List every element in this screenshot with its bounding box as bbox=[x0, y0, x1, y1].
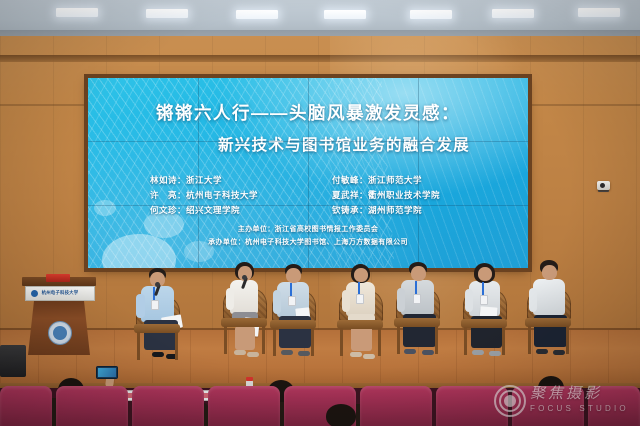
wall-trim-molding bbox=[0, 55, 640, 62]
audience-seat[interactable] bbox=[56, 386, 128, 426]
panelist-shoe bbox=[247, 352, 259, 357]
panelist-head bbox=[478, 267, 492, 281]
bottle-cap bbox=[246, 377, 253, 381]
led-video-wall: 锵锵六人行——头脑风暴激发灵感： 新兴技术与图书馆业务的融合发展 林如诗：浙江大… bbox=[88, 78, 528, 268]
chair-leg bbox=[137, 332, 140, 360]
panelist-legs bbox=[351, 326, 372, 351]
panelist-arm bbox=[226, 288, 234, 310]
chair-leg bbox=[224, 326, 227, 354]
panelist-shoe bbox=[404, 349, 416, 354]
microphone-head bbox=[155, 282, 160, 287]
panelist-arm bbox=[529, 288, 537, 312]
screenshot-root: 锵锵六人行——头脑风暴激发灵感： 新兴技术与图书馆业务的融合发展 林如诗：浙江大… bbox=[0, 0, 640, 426]
wicker-chair-seat bbox=[221, 318, 267, 327]
panelist-shoe bbox=[350, 352, 362, 357]
audience-seat[interactable] bbox=[208, 386, 280, 426]
led-ceiling-panel bbox=[410, 10, 452, 19]
audience-seat[interactable] bbox=[132, 386, 204, 426]
panelist-shoe bbox=[234, 350, 246, 355]
panelist-head bbox=[411, 266, 426, 281]
chair-leg bbox=[340, 328, 343, 356]
id-badge bbox=[288, 296, 296, 306]
podium: 杭州电子科技大学 bbox=[22, 277, 96, 355]
panelist-shoe bbox=[553, 350, 565, 355]
speaker-name: 许 亮：杭州电子科技大学 bbox=[150, 189, 332, 201]
panelist-shoe bbox=[472, 350, 484, 355]
panelist-shoe bbox=[363, 354, 375, 359]
video-wall-seam bbox=[418, 78, 419, 268]
wicker-chair-seat bbox=[525, 318, 571, 327]
video-wall-seam bbox=[88, 205, 528, 206]
podium-nameplate: 杭州电子科技大学 bbox=[25, 286, 95, 301]
id-badge bbox=[480, 295, 488, 305]
panelist-head bbox=[354, 268, 368, 282]
panelist-shoe bbox=[422, 350, 434, 355]
panelist-7 bbox=[523, 260, 577, 366]
led-ceiling-panel bbox=[56, 8, 98, 17]
chair-leg bbox=[566, 326, 569, 354]
podium-red-tag bbox=[46, 274, 70, 282]
panelist-6 bbox=[459, 263, 513, 366]
wicker-chair-seat bbox=[461, 319, 507, 328]
speaker-name: 付敏峰：浙江师范大学 bbox=[332, 174, 422, 186]
led-ceiling-panel bbox=[324, 10, 366, 19]
panelist-arm bbox=[397, 288, 405, 312]
chair-leg bbox=[435, 326, 438, 354]
panelist-arm bbox=[342, 290, 350, 312]
chair-leg bbox=[175, 332, 178, 360]
chair-leg bbox=[311, 328, 314, 356]
panelist-shoe bbox=[152, 352, 164, 357]
chair-leg bbox=[397, 326, 400, 354]
chair-leg bbox=[502, 327, 505, 355]
university-emblem-icon bbox=[48, 321, 72, 345]
audience-seat[interactable] bbox=[360, 386, 432, 426]
wicker-chair-seat bbox=[270, 320, 316, 329]
chair-leg bbox=[464, 327, 467, 355]
video-wall-seam bbox=[88, 141, 528, 142]
chair-leg bbox=[262, 326, 265, 354]
logo-center-dot bbox=[504, 395, 516, 407]
camera-lens bbox=[600, 183, 605, 188]
microphone-head bbox=[242, 275, 247, 280]
panelist-2 bbox=[219, 262, 273, 366]
smartphone bbox=[96, 366, 118, 379]
wicker-chair-seat bbox=[134, 324, 180, 333]
aperture-ring-logo-icon bbox=[494, 385, 524, 415]
slide-speaker-list: 林如诗：浙江大学 付敏峰：浙江师范大学 许 亮：杭州电子科技大学 夏武祥：衢州职… bbox=[150, 174, 510, 216]
lanyard bbox=[415, 281, 417, 295]
chair-leg bbox=[273, 328, 276, 356]
speaker-row: 林如诗：浙江大学 付敏峰：浙江师范大学 bbox=[150, 174, 510, 186]
photographer-watermark: 聚焦摄影 FOCUS STUDIO bbox=[494, 380, 634, 420]
wicker-chair-seat bbox=[394, 318, 440, 327]
panelist-5 bbox=[392, 262, 446, 366]
led-ceiling-panel bbox=[492, 9, 534, 18]
emblem-inner bbox=[53, 326, 67, 340]
watermark-brand-en: FOCUS STUDIO bbox=[530, 404, 629, 413]
video-wall-seam bbox=[308, 78, 309, 268]
podium-nameplate-text: 杭州电子科技大学 bbox=[26, 290, 94, 296]
id-badge bbox=[356, 294, 364, 304]
panelist-1 bbox=[132, 268, 188, 366]
panelist-4 bbox=[335, 264, 389, 366]
wicker-chair-seat bbox=[337, 320, 383, 329]
panelist-shoe bbox=[298, 351, 310, 356]
speaker-name: 林如诗：浙江大学 bbox=[150, 174, 332, 186]
led-ceiling-panel bbox=[236, 10, 278, 19]
panelist-shoe bbox=[536, 349, 548, 354]
chair-leg bbox=[378, 328, 381, 356]
audience-seat[interactable] bbox=[0, 386, 52, 426]
panelist-head bbox=[286, 268, 301, 283]
panelist-arm bbox=[273, 290, 281, 314]
led-ceiling-panel bbox=[578, 8, 620, 17]
panelist-shoe bbox=[281, 350, 293, 355]
panelist-3 bbox=[268, 264, 322, 366]
id-badge bbox=[151, 300, 159, 310]
lanyard bbox=[290, 283, 292, 297]
phone-screen bbox=[98, 368, 116, 377]
wall-camera-icon bbox=[597, 181, 611, 192]
panelist-torso bbox=[533, 279, 565, 315]
led-ceiling-panel bbox=[146, 9, 188, 18]
panelist-head bbox=[542, 265, 557, 280]
id-badge bbox=[413, 294, 421, 304]
lanyard bbox=[482, 282, 484, 296]
speaker-name: 夏武祥：衢州职业技术学院 bbox=[332, 189, 440, 201]
panelist-legs bbox=[235, 326, 255, 350]
floor-speaker bbox=[0, 345, 26, 377]
panelist-shoe bbox=[489, 351, 501, 356]
audience-head bbox=[326, 404, 356, 426]
chair-leg bbox=[528, 326, 531, 354]
video-wall-seam bbox=[198, 78, 199, 268]
panelist-arm bbox=[465, 289, 473, 312]
watermark-brand-cn: 聚焦摄影 bbox=[530, 382, 602, 403]
speaker-row: 许 亮：杭州电子科技大学 夏武祥：衢州职业技术学院 bbox=[150, 189, 510, 201]
panelist-arm bbox=[136, 294, 145, 318]
